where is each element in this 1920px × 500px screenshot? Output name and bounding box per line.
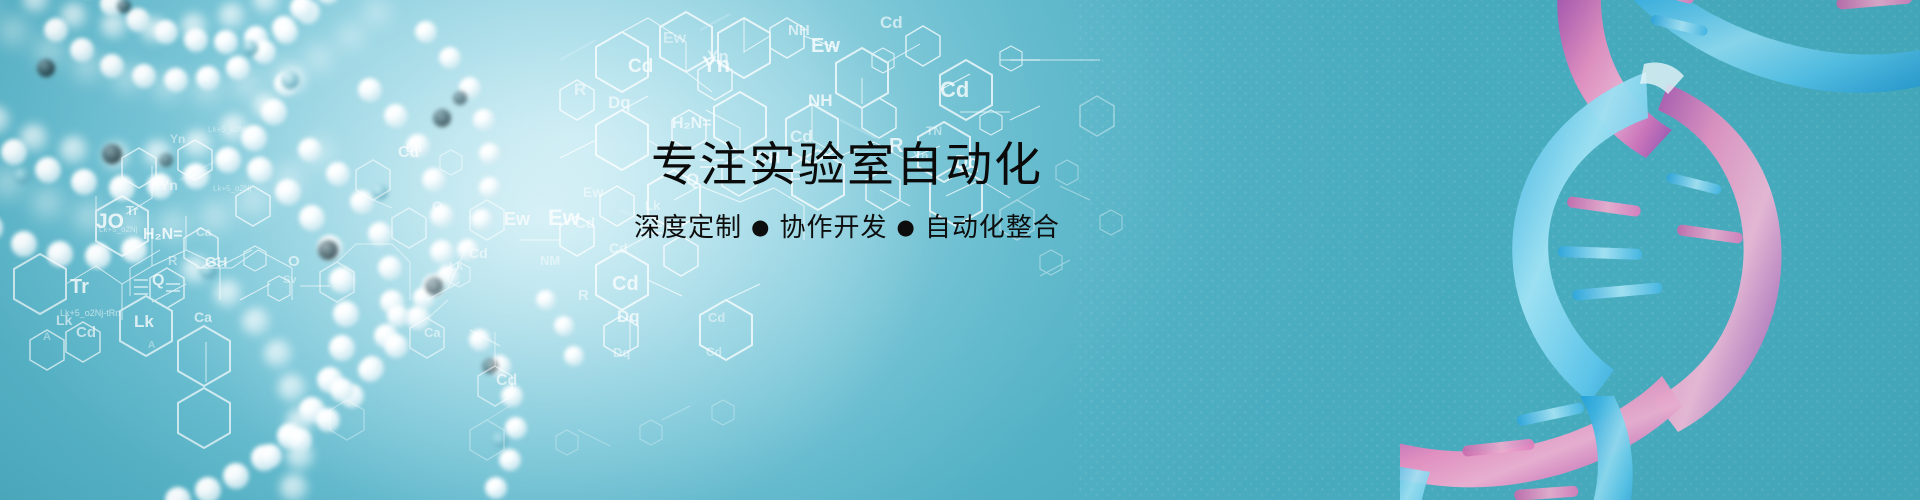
subtitle-part-2: 协作开发 [779, 213, 887, 243]
subtitle-separator-1: ● [742, 215, 779, 240]
subtitle-part-3: 自动化整合 [925, 213, 1060, 243]
banner-headline: 专注实验室自动化 [612, 140, 1082, 193]
banner-subtitle: 深度定制●协作开发●自动化整合 [612, 213, 1082, 244]
subtitle-part-1: 深度定制 [634, 213, 742, 243]
hero-banner: CdYnEwEwNHCdYnRDqH₂N=NHCdCdOHRDqTNYnQEwL… [0, 0, 1920, 500]
subtitle-separator-2: ● [888, 215, 925, 240]
background-vignette [0, 0, 1920, 500]
banner-text-block: 专注实验室自动化 深度定制●协作开发●自动化整合 [612, 140, 1082, 244]
